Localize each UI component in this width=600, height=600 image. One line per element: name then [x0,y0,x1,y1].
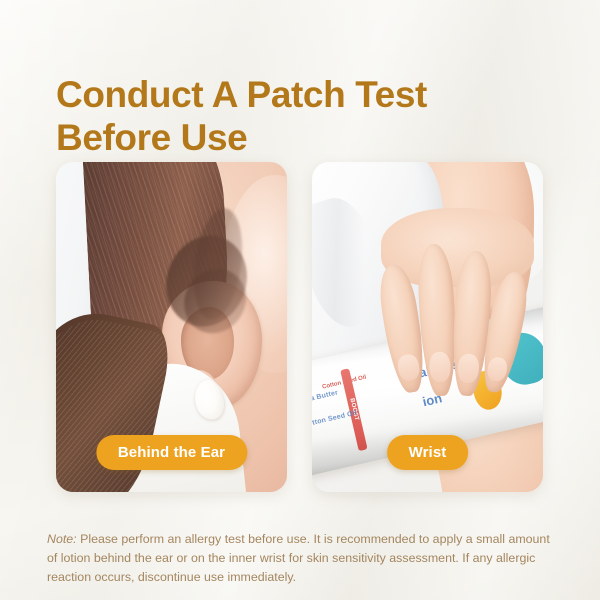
fingernail-shape [429,352,451,383]
baby-hand-shape [381,235,543,400]
label-pill-behind-the-ear[interactable]: Behind the Ear [96,435,247,470]
photo-card-behind-the-ear[interactable]: Behind the Ear [56,162,287,492]
photo-card-wrist[interactable]: Cotton Seed Oil BOOST Shea Butter Cotton… [312,162,543,492]
page-title: Conduct A Patch Test Before Use [56,73,526,159]
fingernail-shape [458,353,480,383]
photo-card-group: Behind the Ear Cotton Seed Oil BOOST She… [56,162,544,492]
label-pill-wrist[interactable]: Wrist [387,435,469,470]
note-text: Please perform an allergy test before us… [47,532,550,584]
patch-test-infographic: Conduct A Patch Test Before Use Behind [0,0,600,600]
fingernail-shape [396,354,420,383]
fingernail-shape [485,355,509,383]
disclaimer-note: Note: Please perform an allergy test bef… [47,530,557,587]
note-label: Note: [47,532,77,546]
